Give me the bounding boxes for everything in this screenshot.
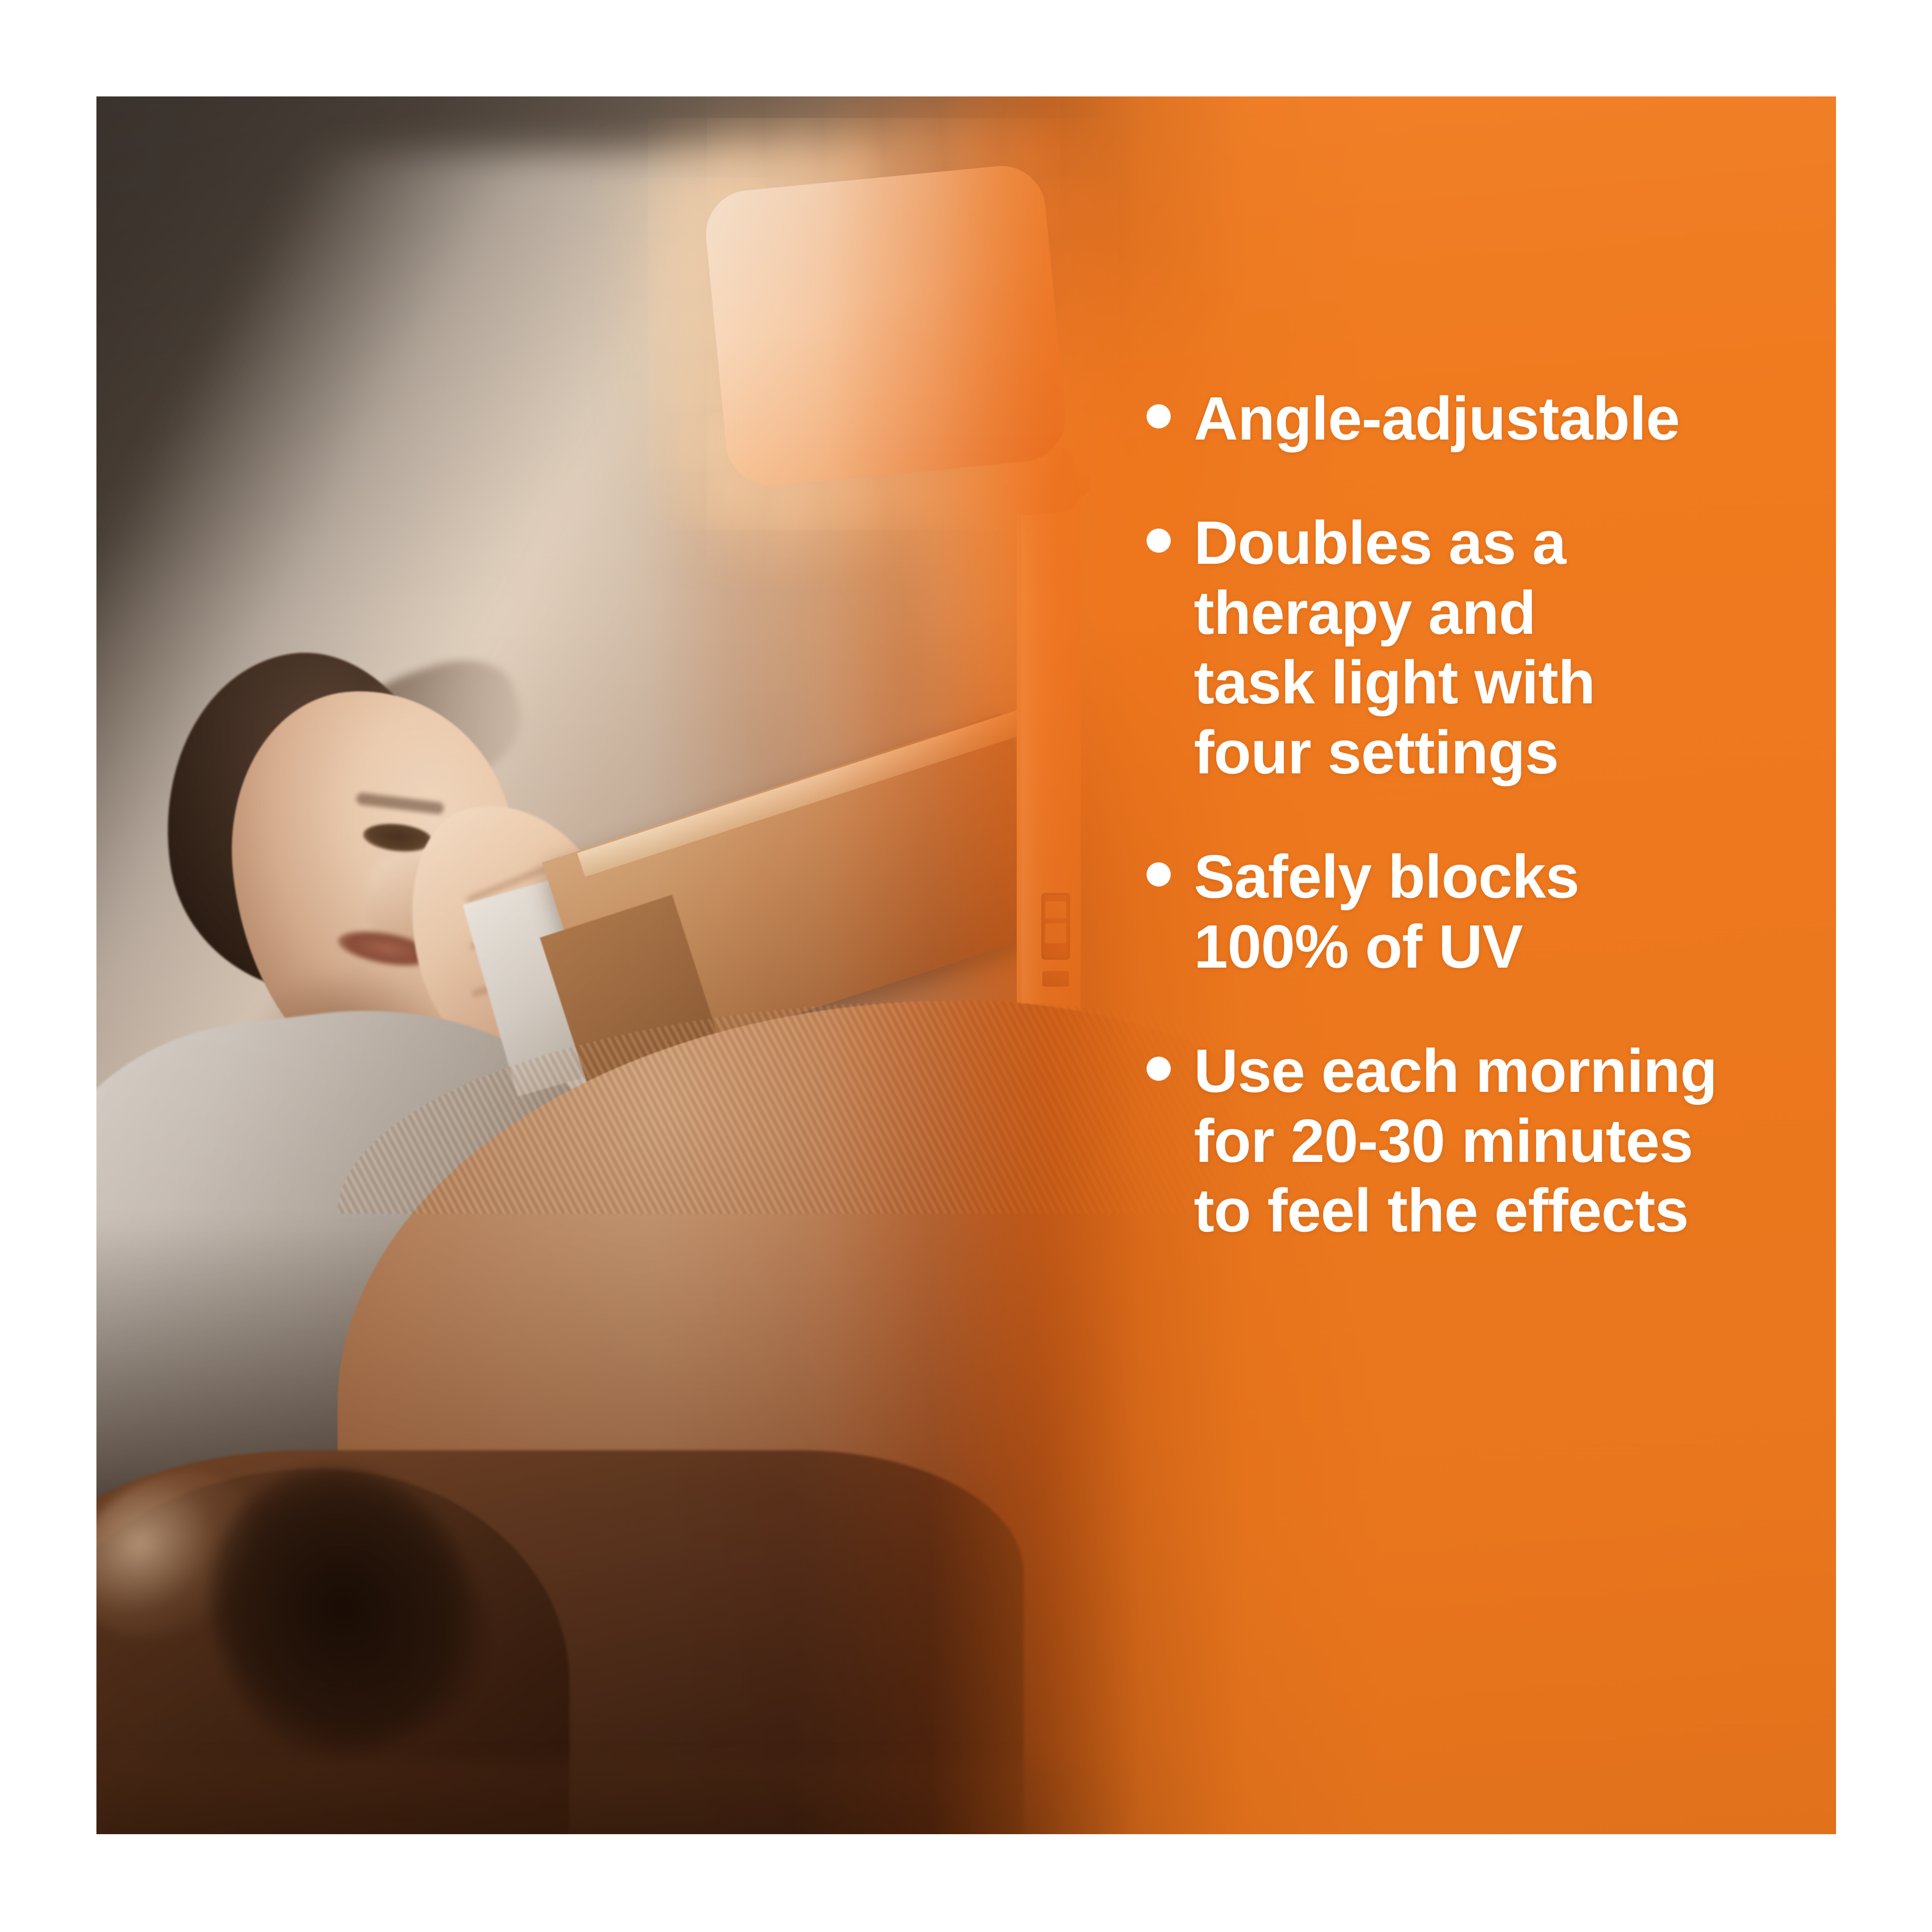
feature-text: Use each morning for 20-30 minutes to fe… <box>1194 1036 1717 1245</box>
feature-text: Safely blocks 100% of UV <box>1194 842 1579 982</box>
feature-item-usage-guidance: Use each morning for 20-30 minutes to fe… <box>1147 1036 1836 1245</box>
feature-item-uv-blocking: Safely blocks 100% of UV <box>1147 842 1836 982</box>
bullet-dot-icon <box>1147 1057 1171 1081</box>
bullet-dot-icon <box>1147 404 1171 428</box>
feature-item-dual-purpose: Doubles as a therapy and task light with… <box>1147 508 1836 787</box>
feature-list: Angle-adjustable Doubles as a therapy an… <box>1147 384 1836 1246</box>
bullet-dot-icon <box>1147 529 1171 553</box>
feature-text: Doubles as a therapy and task light with… <box>1194 508 1595 787</box>
product-feature-card: Angle-adjustable Doubles as a therapy an… <box>0 0 1932 1932</box>
bullet-dot-icon <box>1147 862 1171 886</box>
content-panel: Angle-adjustable Doubles as a therapy an… <box>96 96 1836 1834</box>
feature-text: Angle-adjustable <box>1194 384 1679 453</box>
feature-item-angle-adjustable: Angle-adjustable <box>1147 384 1836 453</box>
